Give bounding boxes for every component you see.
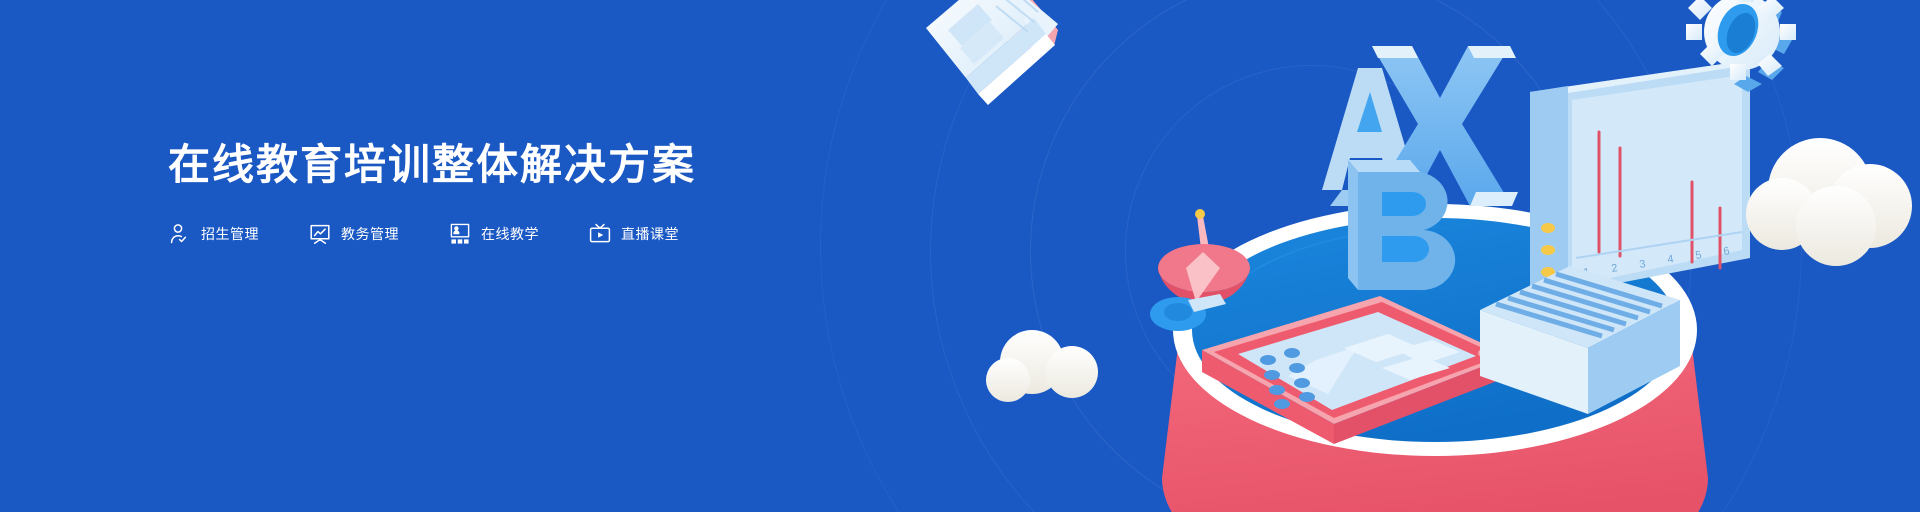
cloud-large bbox=[1746, 138, 1912, 266]
feature-list: 招生管理 教务管理 bbox=[168, 222, 868, 246]
hero-illustration: 1 2 3 4 5 6 bbox=[920, 0, 1920, 512]
feature-label: 招生管理 bbox=[201, 224, 259, 244]
open-book bbox=[926, 0, 1058, 105]
promo-banner: 1 2 3 4 5 6 bbox=[0, 0, 1920, 512]
cloud-small bbox=[986, 330, 1098, 402]
feature-label: 教务管理 bbox=[341, 224, 399, 244]
feature-item-enrollment[interactable]: 招生管理 bbox=[168, 222, 259, 246]
presentation-chart-icon bbox=[308, 222, 332, 246]
classroom-board-icon bbox=[448, 222, 472, 246]
tv-play-icon bbox=[588, 222, 612, 246]
feature-item-online-teaching[interactable]: 在线教学 bbox=[448, 222, 539, 246]
page-title: 在线教育培训整体解决方案 bbox=[168, 140, 868, 190]
toolbar-dots bbox=[1541, 223, 1555, 277]
feature-item-academic[interactable]: 教务管理 bbox=[308, 222, 399, 246]
feature-label: 在线教学 bbox=[481, 224, 539, 244]
feature-label: 直播课堂 bbox=[621, 224, 679, 244]
banner-copy: 在线教育培训整体解决方案 招生管理 bbox=[168, 140, 868, 246]
user-check-icon bbox=[168, 222, 192, 246]
feature-item-live-class[interactable]: 直播课堂 bbox=[588, 222, 679, 246]
